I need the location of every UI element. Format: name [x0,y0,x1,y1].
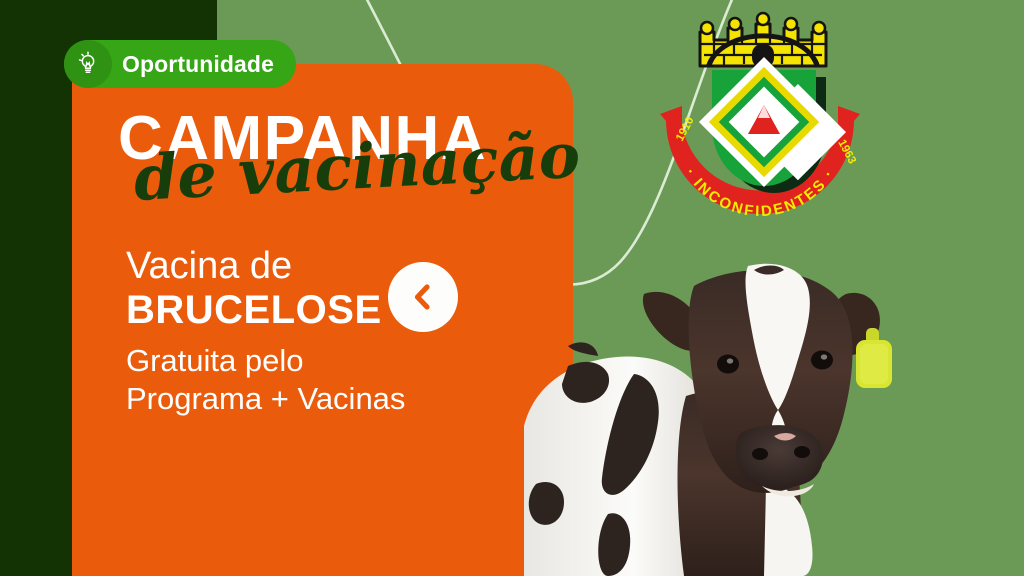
vaccine-info-block: Vacina de BRUCELOSE Gratuita pelo Progra… [126,245,405,417]
chevron-left-icon [406,280,440,314]
calf-eye-right [811,351,833,370]
inconfidentes-coat-of-arms: · INCONFIDENTES · 1910 1963 [652,2,868,224]
eye-highlight-left [727,358,733,363]
opportunity-badge-label: Oportunidade [122,51,274,78]
nostril-left [752,448,768,460]
vaccine-free-line-2: Programa + Vacinas [126,380,405,417]
vaccine-free-line-1: Gratuita pelo [126,342,405,379]
body-patch-5 [568,342,598,356]
poster-canvas: Oportunidade CAMPANHA de vacinação Vacin… [0,0,1024,576]
neck-white-patch [764,486,813,576]
dark-green-panel-top [0,0,217,43]
vaccine-intro-line: Vacina de [126,245,405,288]
opportunity-badge[interactable]: Oportunidade [64,40,296,88]
lightbulb-icon [64,40,112,88]
holstein-calf-photo [516,246,936,576]
calf-eye-left [717,355,739,374]
eye-highlight-right [821,354,827,359]
vaccine-name: BRUCELOSE [126,288,405,333]
nostril-right [794,446,810,458]
carousel-prev-button[interactable] [388,262,458,332]
headline-group: CAMPANHA de vacinação [118,108,487,170]
